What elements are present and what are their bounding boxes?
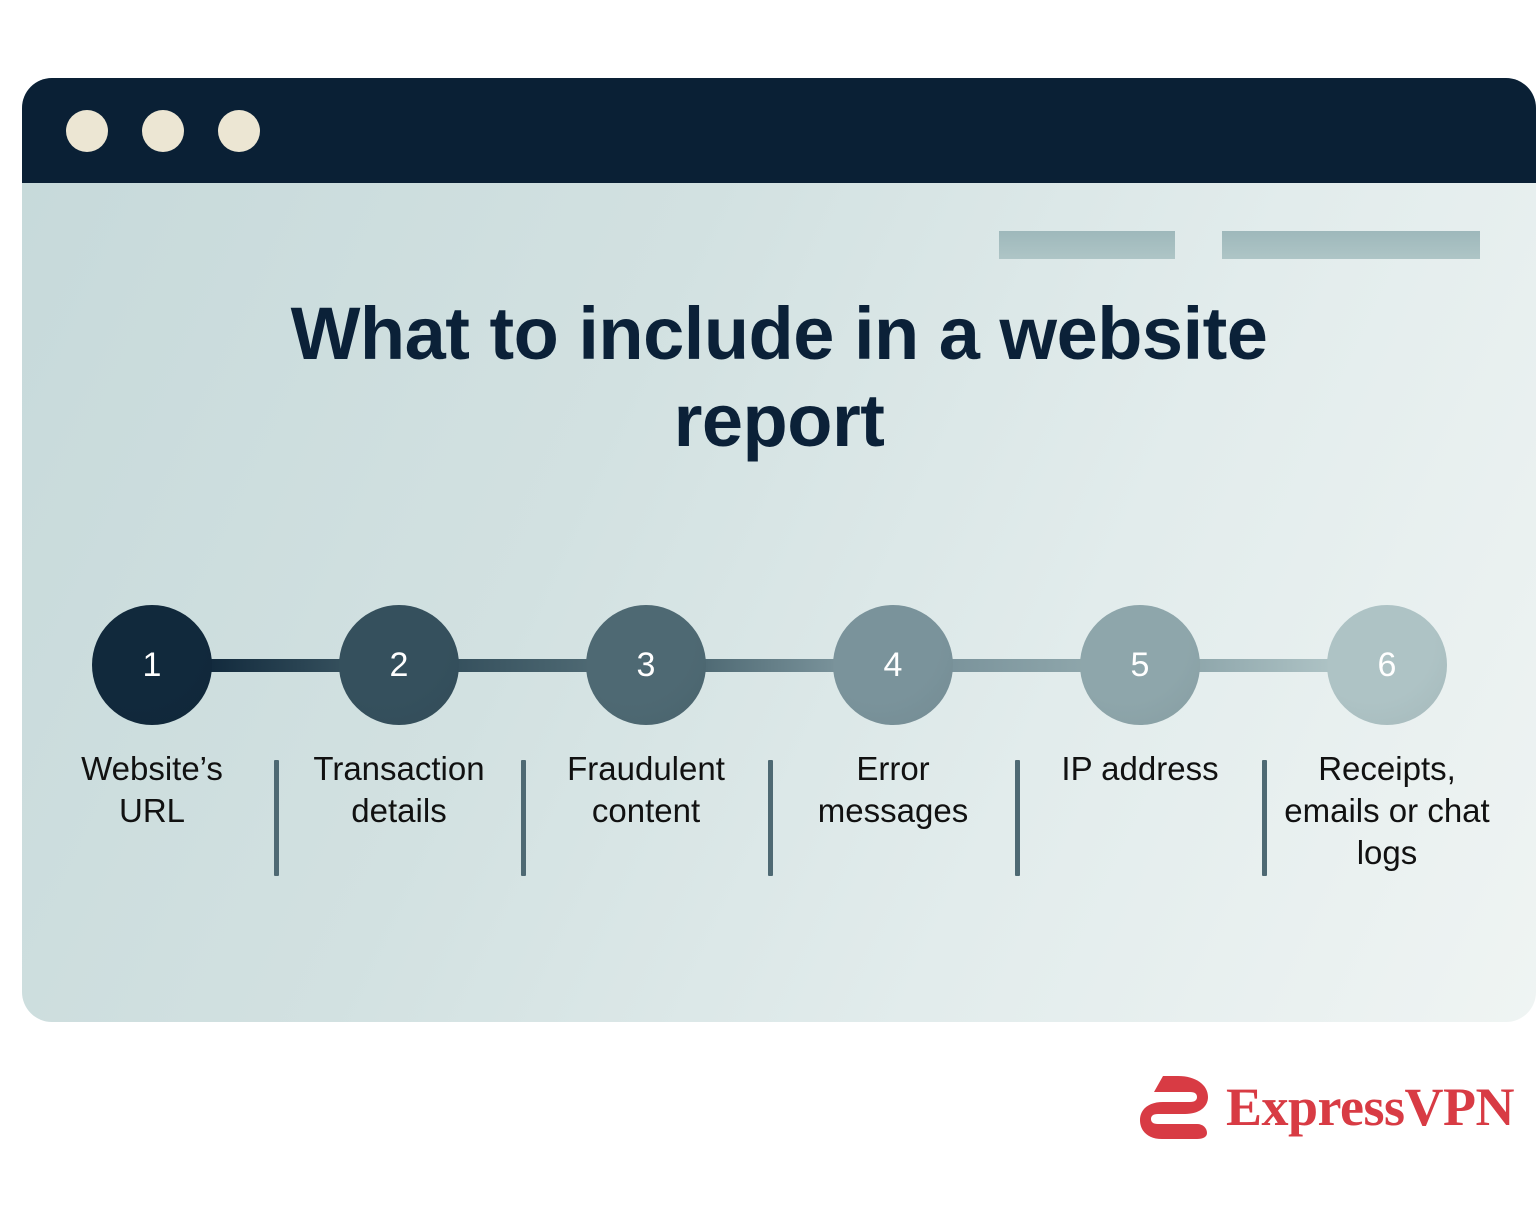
timeline-node-number: 5 [1131,646,1150,685]
timeline-node-number: 1 [143,646,162,685]
traffic-light-minimize-icon[interactable] [142,110,184,152]
timeline-label-divider [1015,760,1020,876]
timeline-node-2[interactable]: 2 [339,605,459,725]
placeholder-bar-1 [999,231,1175,259]
browser-title-bar [22,78,1536,183]
placeholder-bar-2 [1222,231,1480,259]
timeline-node-number: 2 [390,646,409,685]
timeline-label-6: Receipts, emails or chat logs [1277,748,1497,875]
timeline-labels: Website’s URLTransaction detailsFraudule… [22,748,1536,948]
timeline-node-6[interactable]: 6 [1327,605,1447,725]
timeline-node-1[interactable]: 1 [92,605,212,725]
timeline-label-4: Error messages [778,748,1008,832]
timeline-label-2: Transaction details [284,748,514,832]
expressvpn-logo[interactable]: ExpressVPN [1140,1074,1514,1140]
timeline-label-1: Website’s URL [47,748,257,832]
timeline-node-number: 6 [1378,646,1397,685]
traffic-light-maximize-icon[interactable] [218,110,260,152]
page-title: What to include in a website report [259,290,1299,465]
timeline-label-3: Fraudulent content [531,748,761,832]
timeline-node-number: 4 [884,646,903,685]
expressvpn-e-icon [1140,1074,1212,1140]
timeline-connector [1194,659,1333,672]
infographic-root: What to include in a website report 1234… [0,0,1536,1218]
expressvpn-wordmark: ExpressVPN [1226,1080,1514,1134]
timeline-label-divider [274,760,279,876]
timeline-label-divider [1262,760,1267,876]
timeline-node-3[interactable]: 3 [586,605,706,725]
timeline-node-4[interactable]: 4 [833,605,953,725]
browser-window-card: What to include in a website report 1234… [22,78,1536,1022]
timeline-label-5: IP address [1030,748,1250,790]
timeline-connector [453,659,592,672]
timeline-connector [947,659,1086,672]
traffic-light-close-icon[interactable] [66,110,108,152]
timeline-label-divider [768,760,773,876]
timeline-connector [206,659,345,672]
timeline-label-divider [521,760,526,876]
timeline-node-number: 3 [637,646,656,685]
timeline-node-5[interactable]: 5 [1080,605,1200,725]
timeline-connector [700,659,839,672]
